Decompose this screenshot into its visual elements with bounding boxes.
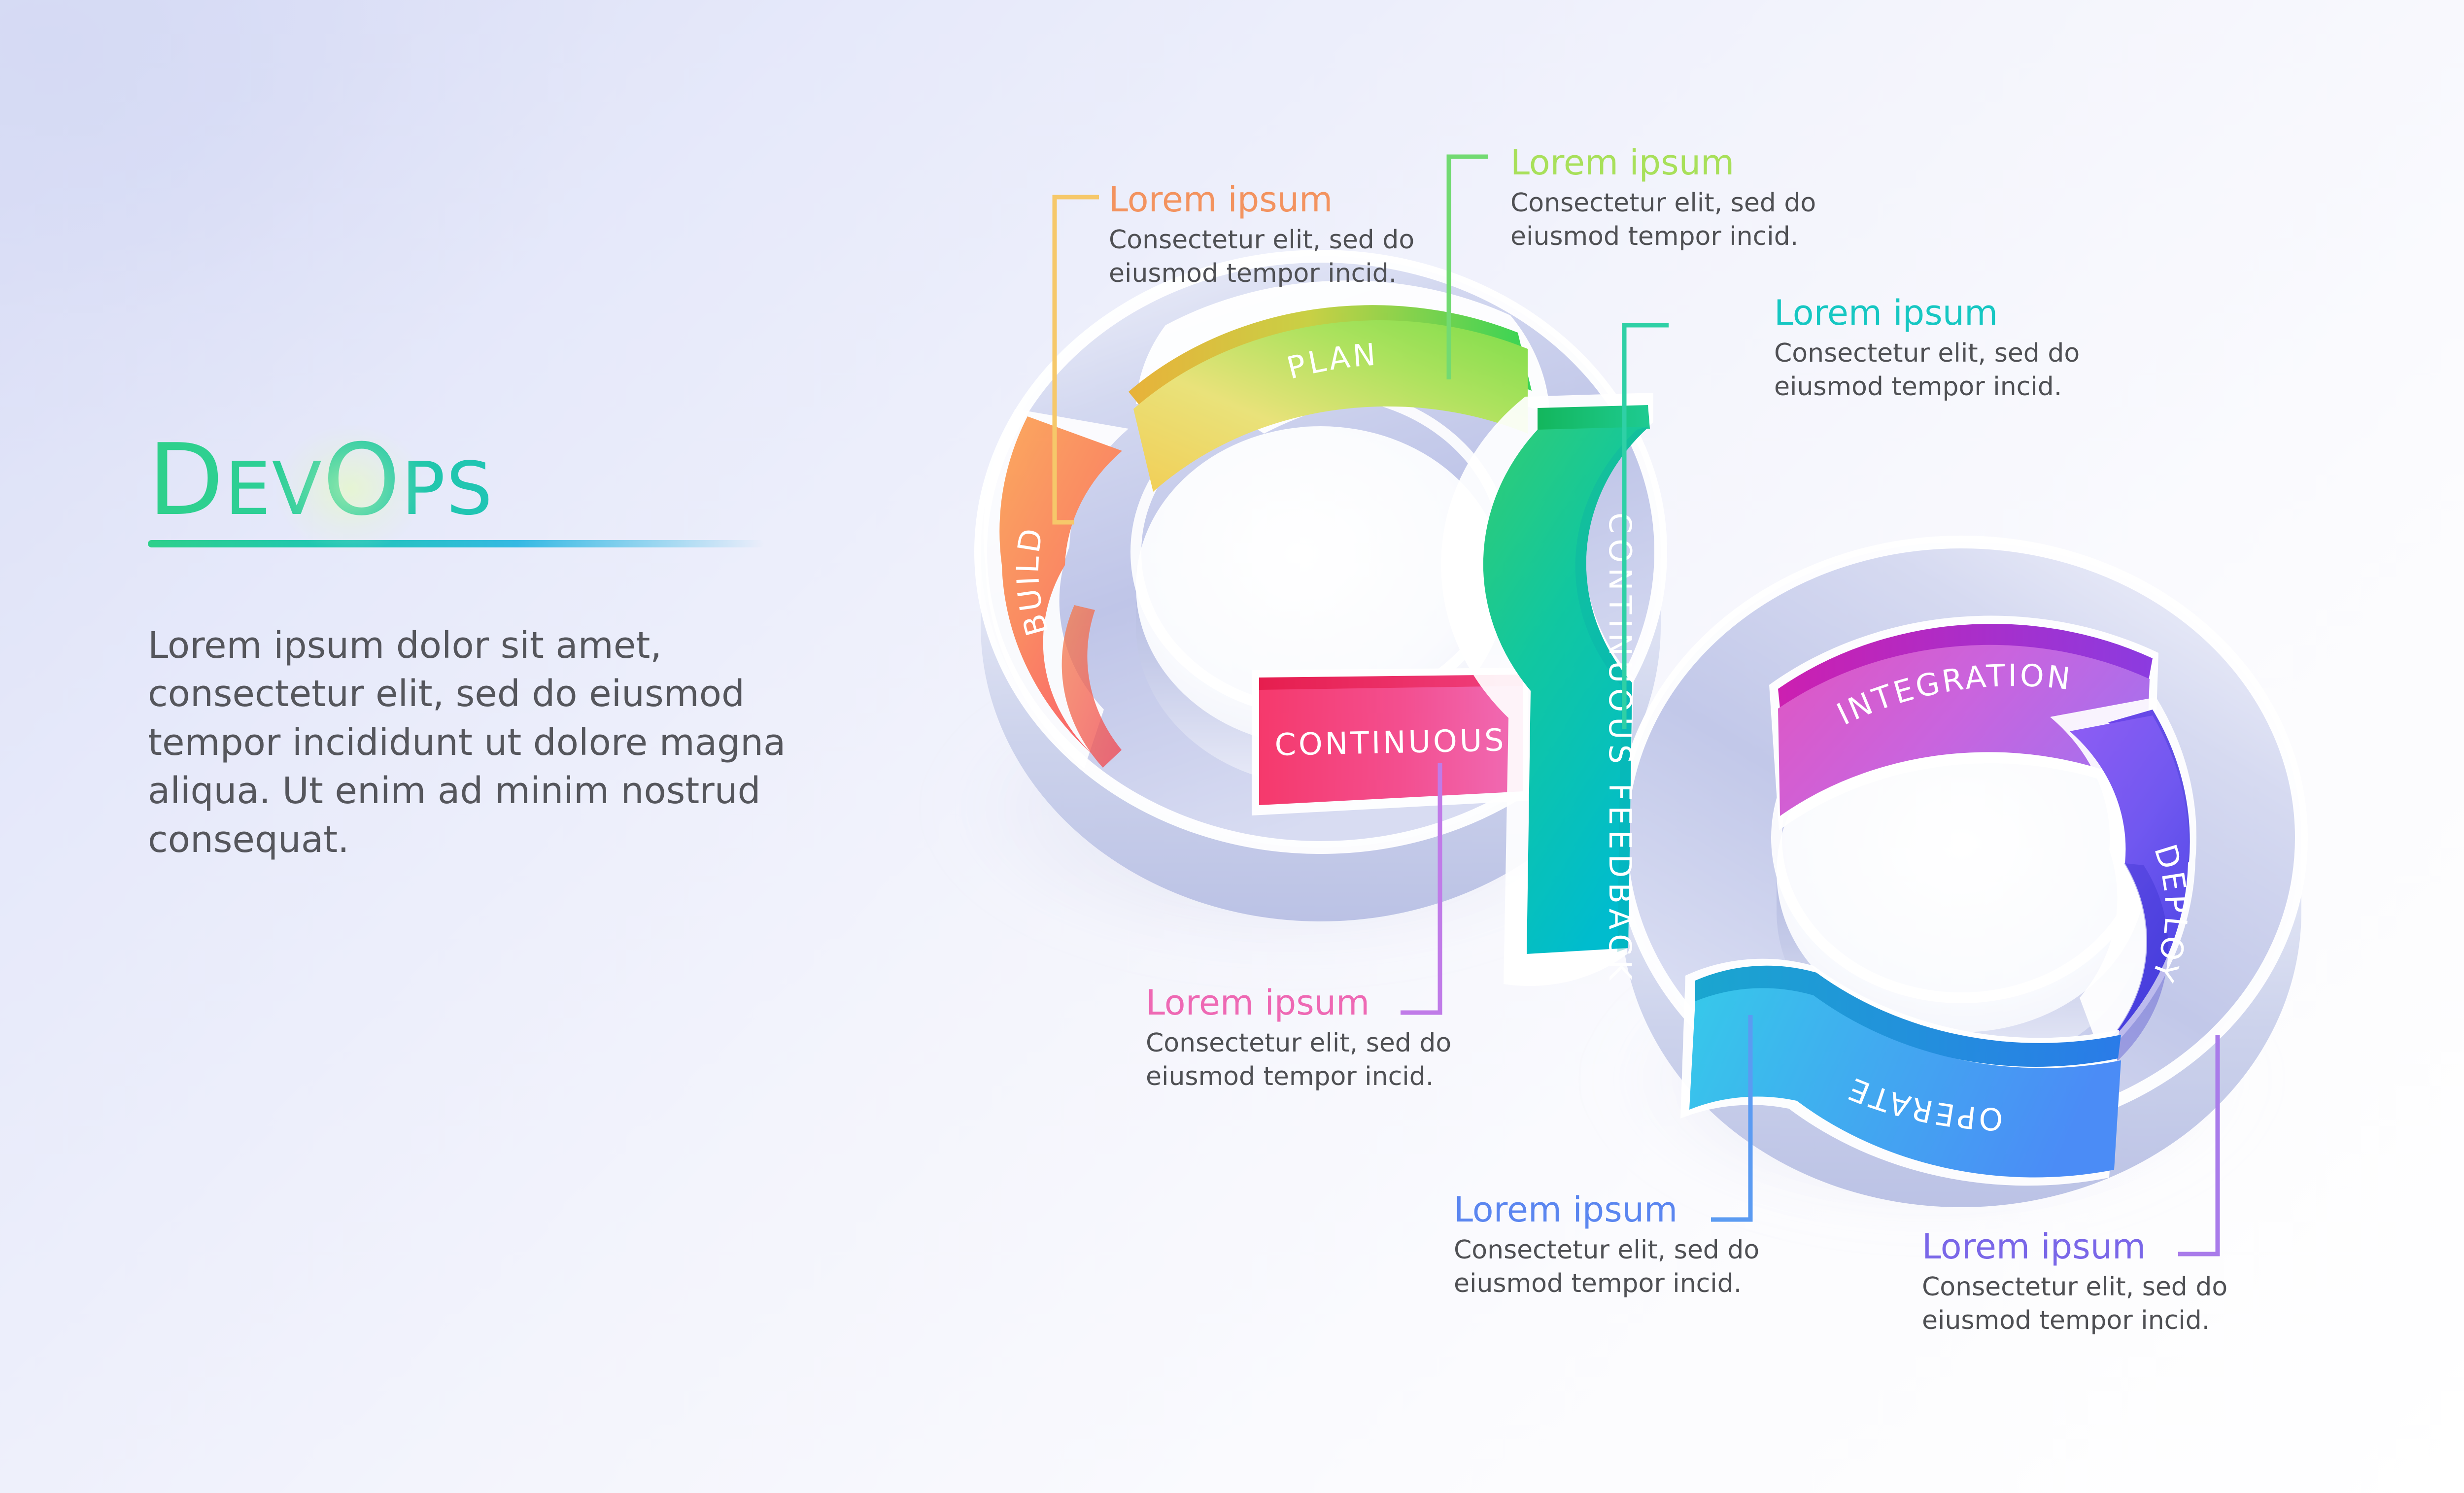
annotation-plan: Lorem ipsum Consectetur elit, sed do eiu… [1510, 145, 1816, 253]
annotation-feedback-desc-line2: eiusmod tempor incid. [1774, 371, 2080, 404]
annotation-feedback-title: Lorem ipsum [1774, 296, 2080, 330]
annotation-continuous: Lorem ipsum Consectetur elit, sed do eiu… [1146, 985, 1451, 1093]
annotation-feedback: Lorem ipsum Consectetur elit, sed do eiu… [1774, 296, 2080, 404]
annotation-plan-desc-line2: eiusmod tempor incid. [1510, 220, 1816, 254]
annotation-operate-desc-line2: eiusmod tempor incid. [1454, 1267, 1759, 1301]
annotation-operate-desc-line1: Consectetur elit, sed do [1454, 1234, 1759, 1267]
canvas: DEVOPS Lorem ipsum dolor sit amet, conse… [0, 0, 2464, 1493]
annotation-feedback-desc-line1: Consectetur elit, sed do [1774, 337, 2080, 371]
annotation-build-desc-line2: eiusmod tempor incid. [1109, 257, 1414, 291]
annotation-build-title: Lorem ipsum [1109, 182, 1414, 217]
annotation-deploy: Lorem ipsum Consectetur elit, sed do eiu… [1922, 1229, 2227, 1337]
annotation-deploy-desc-line2: eiusmod tempor incid. [1922, 1304, 2227, 1338]
annotation-build: Lorem ipsum Consectetur elit, sed do eiu… [1109, 182, 1414, 290]
annotation-deploy-title: Lorem ipsum [1922, 1229, 2227, 1264]
annotation-build-desc-line1: Consectetur elit, sed do [1109, 224, 1414, 257]
segment-continuous-label: CONTINUOUS [1274, 722, 1506, 763]
annotation-plan-desc-line1: Consectetur elit, sed do [1510, 187, 1816, 220]
annotation-operate: Lorem ipsum Consectetur elit, sed do eiu… [1454, 1192, 1759, 1300]
annotation-operate-title: Lorem ipsum [1454, 1192, 1759, 1227]
annotation-continuous-desc-line2: eiusmod tempor incid. [1146, 1060, 1451, 1094]
annotation-continuous-title: Lorem ipsum [1146, 985, 1451, 1020]
segment-feedback-label: CONTINUOUS FEEDBACK [1602, 512, 1638, 985]
annotation-plan-title: Lorem ipsum [1510, 145, 1816, 180]
annotation-continuous-desc-line1: Consectetur elit, sed do [1146, 1027, 1451, 1060]
annotation-deploy-desc-line1: Consectetur elit, sed do [1922, 1271, 2227, 1304]
